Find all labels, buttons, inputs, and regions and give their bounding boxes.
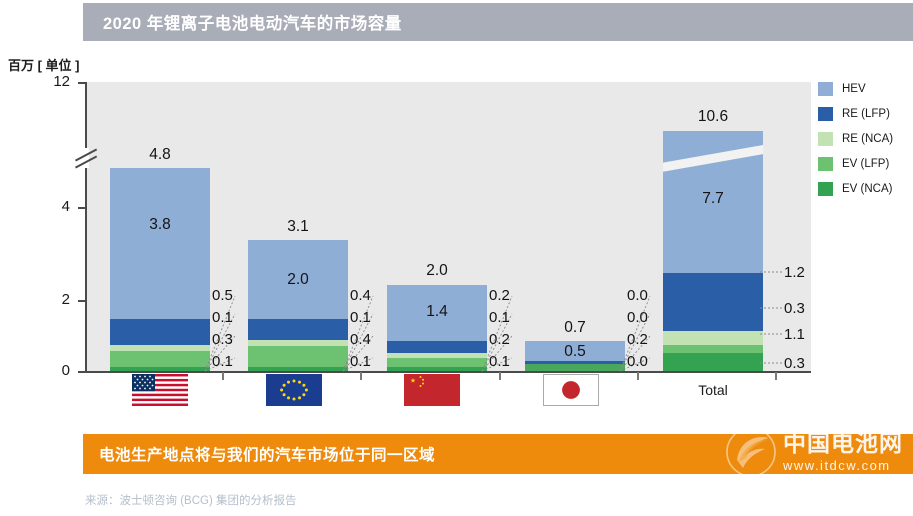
bar-eu-callout-re-lfp: 0.4 (350, 288, 371, 303)
bar-usa-callouts: 0.5 0.1 0.3 0.1 (212, 288, 252, 378)
legend-swatch-re-nca (818, 132, 833, 146)
bar-eu-total-label: 3.1 (248, 218, 348, 236)
bar-usa-hev-label: 3.8 (110, 216, 210, 234)
bar-total-total-label: 10.6 (663, 108, 763, 126)
x-category-usa (132, 374, 188, 406)
bar-total[interactable] (663, 131, 763, 371)
x-axis-line (85, 371, 811, 373)
legend-label-ev-lfp: EV (LFP) (842, 158, 889, 170)
legend-item-re-nca[interactable]: RE (NCA) (818, 128, 913, 150)
bar-japan-seg-ev-lfp (525, 364, 625, 371)
bar-total-seg-ev-nca-base (663, 353, 763, 371)
title-banner: 2020 年锂离子电池电动汽车的市场容量 (83, 3, 913, 41)
bar-china-seg-ev-lfp (387, 358, 487, 367)
chart-page: 2020 年锂离子电池电动汽车的市场容量 百万 [ 单位 ] 12 4 2 0 … (0, 0, 913, 516)
watermark: 中国电池网 www.itdcw.com (725, 426, 903, 478)
bar-total-seg-re-lfp (663, 273, 763, 331)
legend-label-re-nca: RE (NCA) (842, 133, 893, 145)
legend-label-re-lfp: RE (LFP) (842, 108, 890, 120)
legend-item-ev-lfp[interactable]: EV (LFP) (818, 153, 913, 175)
bar-china-callout-re-nca: 0.1 (489, 310, 510, 325)
watermark-text: 中国电池网 www.itdcw.com (783, 432, 903, 472)
bar-eu-callout-re-nca: 0.1 (350, 310, 371, 325)
bar-total-hev-label: 7.7 (663, 190, 763, 208)
bar-eu-callout-ev-nca: 0.1 (350, 354, 371, 369)
bar-japan-hev-label: 0.5 (525, 343, 625, 361)
bar-usa-total-label: 4.8 (110, 146, 210, 164)
bar-eu[interactable] (248, 240, 348, 371)
legend-item-hev[interactable]: HEV (818, 78, 913, 100)
x-category-eu (266, 374, 322, 406)
bar-china-seg-re-lfp (387, 341, 487, 353)
bar-usa-callout-re-nca: 0.1 (212, 310, 233, 325)
bar-china-callouts: 0.2 0.1 0.2 0.1 (489, 288, 529, 378)
x-category-total-label: Total (663, 382, 763, 398)
bar-total-callout-re-lfp: 1.2 (784, 265, 805, 280)
legend-label-hev: HEV (842, 83, 866, 95)
watermark-brand: 中国电池网 (783, 432, 903, 455)
watermark-url: www.itdcw.com (783, 459, 903, 472)
y-axis-line (85, 82, 87, 372)
y-tick-0 (78, 371, 85, 373)
bar-usa-seg-ev-nca (110, 367, 210, 371)
legend-item-re-lfp[interactable]: RE (LFP) (818, 103, 913, 125)
legend-swatch-re-lfp (818, 107, 833, 121)
bar-china[interactable] (387, 285, 487, 371)
bar-japan-total-label: 0.7 (525, 319, 625, 337)
bar-usa-seg-re-lfp (110, 319, 210, 345)
y-tick-label-2: 2 (30, 291, 70, 308)
bar-usa-seg-ev-lfp (110, 351, 210, 367)
y-tick-12 (78, 82, 85, 84)
y-tick-4 (78, 207, 85, 209)
globe-logo-icon (725, 426, 777, 478)
bar-usa[interactable] (110, 168, 210, 371)
bar-usa-seg-hev (110, 168, 210, 319)
bar-eu-seg-ev-nca (248, 367, 348, 371)
bar-japan-callout-ev-lfp: 0.2 (627, 332, 648, 347)
legend: HEV RE (LFP) RE (NCA) EV (LFP) EV (NCA) (818, 78, 913, 203)
bar-china-callout-re-lfp: 0.2 (489, 288, 510, 303)
flag-japan-icon (543, 374, 599, 406)
flag-usa-icon (132, 374, 188, 406)
y-tick-label-4: 4 (30, 198, 70, 215)
bar-china-seg-ev-nca (387, 367, 487, 371)
bar-usa-callout-re-lfp: 0.5 (212, 288, 233, 303)
bar-eu-seg-ev-lfp (248, 346, 348, 367)
bar-china-callout-ev-lfp: 0.2 (489, 332, 510, 347)
bar-eu-callouts: 0.4 0.1 0.4 0.1 (350, 288, 390, 378)
x-category-japan (543, 374, 599, 406)
flag-china-icon (404, 374, 460, 406)
bar-total-callout-ev-nca: 0.3 (784, 356, 805, 371)
bar-total-callouts: 1.2 0.3 1.1 0.3 (784, 258, 824, 373)
y-tick-label-12: 12 (30, 73, 70, 90)
bar-china-hev-label: 1.4 (387, 303, 487, 321)
bar-eu-callout-ev-lfp: 0.4 (350, 332, 371, 347)
bar-usa-callout-ev-nca: 0.1 (212, 354, 233, 369)
legend-swatch-hev (818, 82, 833, 96)
x-tick-5 (775, 372, 777, 380)
flag-eu-icon (266, 374, 322, 406)
y-tick-2 (78, 300, 85, 302)
bar-total-callout-re-nca: 0.3 (784, 301, 805, 316)
y-axis-unit-caption: 百万 [ 单位 ] (8, 55, 80, 74)
bar-china-callout-ev-nca: 0.1 (489, 354, 510, 369)
bar-total-callout-ev-lfp: 1.1 (784, 327, 805, 342)
bar-japan-callout-re-lfp: 0.0 (627, 288, 648, 303)
page-title: 2020 年锂离子电池电动汽车的市场容量 (83, 10, 402, 34)
x-category-china (404, 374, 460, 406)
bar-usa-callout-ev-lfp: 0.3 (212, 332, 233, 347)
y-tick-label-0: 0 (30, 362, 70, 379)
y-axis-break-icon (74, 148, 98, 168)
bar-japan-callout-re-nca: 0.0 (627, 310, 648, 325)
legend-swatch-ev-lfp (818, 157, 833, 171)
bar-japan-callouts: 0.0 0.0 0.2 0.0 (627, 288, 667, 378)
source-note: 来源：波士顿咨询 (BCG) 集团的分析报告 (85, 492, 296, 508)
legend-label-ev-nca: EV (NCA) (842, 183, 892, 195)
legend-item-ev-nca[interactable]: EV (NCA) (818, 178, 913, 200)
legend-swatch-ev-nca (818, 182, 833, 196)
bar-japan-callout-ev-nca: 0.0 (627, 354, 648, 369)
bar-eu-seg-re-lfp (248, 319, 348, 340)
bar-eu-hev-label: 2.0 (248, 271, 348, 289)
bar-total-seg-re-nca (663, 331, 763, 345)
callout-banner-text: 电池生产地点将与我们的汽车市场位于同一区域 (83, 443, 435, 465)
bar-china-total-label: 2.0 (387, 262, 487, 280)
